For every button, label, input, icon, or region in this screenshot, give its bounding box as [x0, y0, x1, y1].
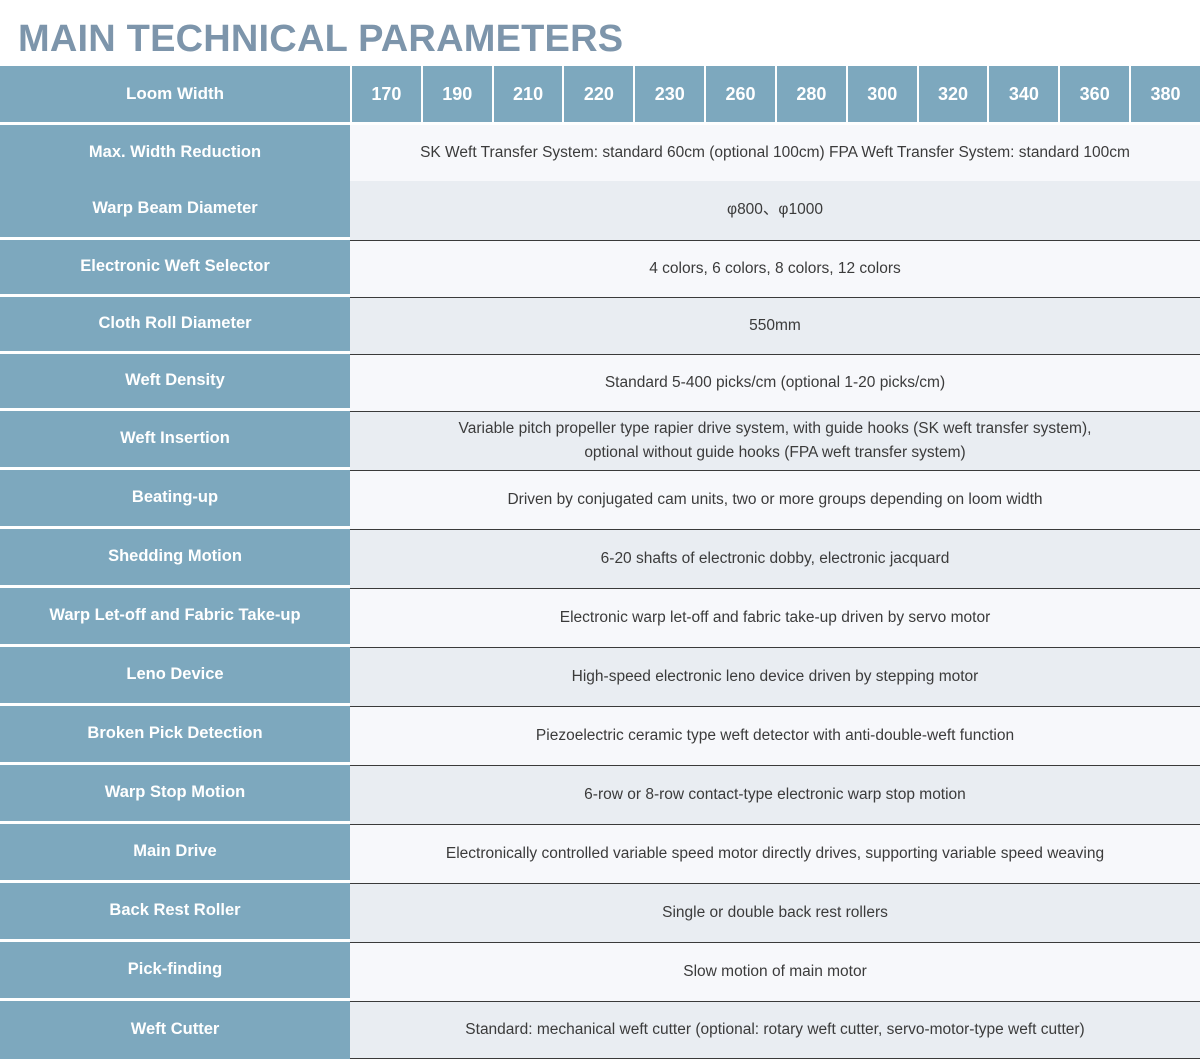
- row-label-warp-beam-diameter: Warp Beam Diameter: [0, 181, 350, 240]
- row-value-max-width-reduction: SK Weft Transfer System: standard 60cm (…: [350, 125, 1200, 181]
- loom-width-col-360: 360: [1058, 66, 1129, 125]
- row-value-shedding-motion: 6-20 shafts of electronic dobby, electro…: [350, 529, 1200, 588]
- row-label-shedding-motion: Shedding Motion: [0, 529, 350, 588]
- table-row: Electronic Weft Selector 4 colors, 6 col…: [0, 240, 1200, 297]
- loom-width-col-320: 320: [917, 66, 988, 125]
- row-label-weft-density: Weft Density: [0, 354, 350, 411]
- loom-width-col-170: 170: [350, 66, 421, 125]
- row-label-leno-device: Leno Device: [0, 647, 350, 706]
- row-value-cloth-roll-diameter: 550mm: [350, 297, 1200, 354]
- table-header-row: Loom Width 170 190 210 220 230 260 280 3…: [0, 66, 1200, 125]
- loom-width-col-380: 380: [1129, 66, 1200, 125]
- row-value-electronic-weft-selector: 4 colors, 6 colors, 8 colors, 12 colors: [350, 240, 1200, 297]
- table-row: Pick-finding Slow motion of main motor: [0, 942, 1200, 1001]
- table-row: Warp Beam Diameter φ800、φ1000: [0, 181, 1200, 240]
- row-label-max-width-reduction: Max. Width Reduction: [0, 125, 350, 181]
- row-value-weft-cutter: Standard: mechanical weft cutter (option…: [350, 1001, 1200, 1059]
- row-label-warp-letoff-fabric-takeup: Warp Let-off and Fabric Take-up: [0, 588, 350, 647]
- table-row: Weft Density Standard 5-400 picks/cm (op…: [0, 354, 1200, 411]
- row-label-broken-pick-detection: Broken Pick Detection: [0, 706, 350, 765]
- row-label-warp-stop-motion: Warp Stop Motion: [0, 765, 350, 824]
- row-value-broken-pick-detection: Piezoelectric ceramic type weft detector…: [350, 706, 1200, 765]
- loom-width-col-210: 210: [492, 66, 563, 125]
- table-row: Weft Insertion Variable pitch propeller …: [0, 411, 1200, 470]
- row-label-pick-finding: Pick-finding: [0, 942, 350, 1001]
- row-label-beating-up: Beating-up: [0, 470, 350, 529]
- weft-insertion-line-1: Variable pitch propeller type rapier dri…: [350, 417, 1200, 441]
- loom-width-col-340: 340: [987, 66, 1058, 125]
- loom-width-col-300: 300: [846, 66, 917, 125]
- row-value-beating-up: Driven by conjugated cam units, two or m…: [350, 470, 1200, 529]
- table-row: Main Drive Electronically controlled var…: [0, 824, 1200, 883]
- table-row: Broken Pick Detection Piezoelectric cera…: [0, 706, 1200, 765]
- row-value-warp-beam-diameter: φ800、φ1000: [350, 181, 1200, 240]
- row-value-weft-insertion: Variable pitch propeller type rapier dri…: [350, 411, 1200, 470]
- row-label-back-rest-roller: Back Rest Roller: [0, 883, 350, 942]
- row-value-back-rest-roller: Single or double back rest rollers: [350, 883, 1200, 942]
- row-value-warp-stop-motion: 6-row or 8-row contact-type electronic w…: [350, 765, 1200, 824]
- row-value-main-drive: Electronically controlled variable speed…: [350, 824, 1200, 883]
- row-value-pick-finding: Slow motion of main motor: [350, 942, 1200, 1001]
- loom-width-col-190: 190: [421, 66, 492, 125]
- table-row: Weft Cutter Standard: mechanical weft cu…: [0, 1001, 1200, 1059]
- row-value-warp-letoff-fabric-takeup: Electronic warp let-off and fabric take-…: [350, 588, 1200, 647]
- page-title: MAIN TECHNICAL PARAMETERS: [0, 0, 1200, 66]
- header-label-loom-width: Loom Width: [0, 66, 350, 125]
- table-row: Warp Let-off and Fabric Take-up Electron…: [0, 588, 1200, 647]
- row-label-weft-cutter: Weft Cutter: [0, 1001, 350, 1059]
- row-value-leno-device: High-speed electronic leno device driven…: [350, 647, 1200, 706]
- table-row: Leno Device High-speed electronic leno d…: [0, 647, 1200, 706]
- row-value-weft-density: Standard 5-400 picks/cm (optional 1-20 p…: [350, 354, 1200, 411]
- table-row: Beating-up Driven by conjugated cam unit…: [0, 470, 1200, 529]
- loom-width-col-260: 260: [704, 66, 775, 125]
- loom-width-col-280: 280: [775, 66, 846, 125]
- row-label-cloth-roll-diameter: Cloth Roll Diameter: [0, 297, 350, 354]
- table-row: Back Rest Roller Single or double back r…: [0, 883, 1200, 942]
- table-row: Cloth Roll Diameter 550mm: [0, 297, 1200, 354]
- technical-parameters-table: Loom Width 170 190 210 220 230 260 280 3…: [0, 66, 1200, 1059]
- row-label-main-drive: Main Drive: [0, 824, 350, 883]
- weft-insertion-line-2: optional without guide hooks (FPA weft t…: [350, 441, 1200, 465]
- loom-width-col-230: 230: [633, 66, 704, 125]
- table-row: Max. Width Reduction SK Weft Transfer Sy…: [0, 125, 1200, 181]
- row-label-weft-insertion: Weft Insertion: [0, 411, 350, 470]
- loom-width-col-220: 220: [562, 66, 633, 125]
- row-label-electronic-weft-selector: Electronic Weft Selector: [0, 240, 350, 297]
- table-row: Shedding Motion 6-20 shafts of electroni…: [0, 529, 1200, 588]
- table-row: Warp Stop Motion 6-row or 8-row contact-…: [0, 765, 1200, 824]
